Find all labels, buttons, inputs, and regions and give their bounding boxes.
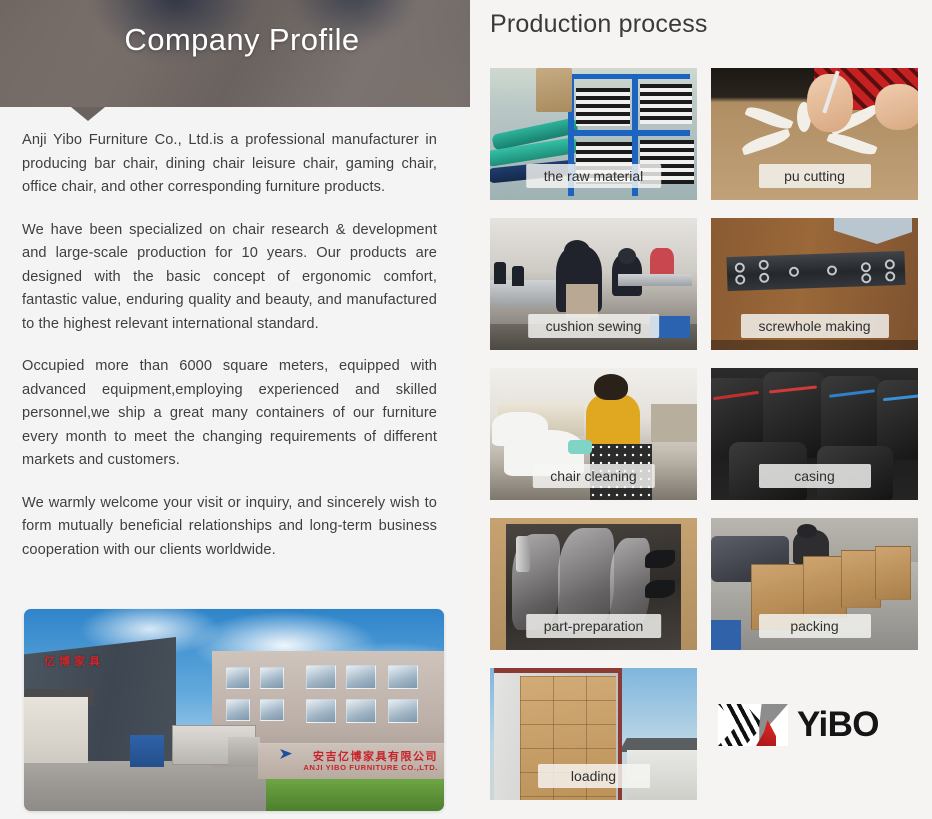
photo-shadow	[711, 340, 918, 350]
process-caption: loading	[538, 764, 650, 788]
photo-window	[388, 699, 418, 723]
page-title: Company Profile	[0, 22, 470, 58]
process-step-loading[interactable]: loading	[490, 668, 697, 800]
production-process-title: Production process	[490, 10, 708, 39]
process-step-cushion-sewing[interactable]: cushion sewing	[490, 218, 697, 350]
photo-window	[306, 665, 336, 689]
photo-chair-base-arm	[645, 580, 675, 598]
profile-paragraph-3: Occupied more than 6000 square meters, e…	[22, 355, 437, 473]
photo-thread-spool	[494, 262, 506, 284]
photo-screw-hole	[885, 259, 895, 269]
photo-metal-sheet	[834, 218, 912, 244]
photo-window	[346, 665, 376, 689]
company-logo: YiBO	[718, 702, 894, 748]
photo-window	[306, 699, 336, 723]
company-profile-panel: Company Profile Anji Yibo Furniture Co.,…	[0, 0, 470, 819]
photo-small-house	[24, 697, 88, 763]
photo-gas-cylinder	[516, 536, 530, 572]
photo-window	[260, 699, 284, 721]
photo-blue-machine	[130, 735, 164, 767]
photo-hand	[807, 74, 853, 132]
photo-white-chair	[492, 412, 548, 446]
process-caption: screwhole making	[740, 314, 888, 338]
process-caption: part-preparation	[526, 614, 662, 638]
photo-blue-stand	[711, 620, 741, 650]
photo-screw-hole	[735, 262, 745, 272]
company-profile-page: Company Profile Anji Yibo Furniture Co.,…	[0, 0, 932, 819]
process-step-the-raw-material[interactable]: the raw material	[490, 68, 697, 200]
photo-worker	[586, 394, 640, 450]
photo-screw-hole	[759, 260, 769, 270]
photo-cardboard	[536, 68, 572, 112]
photo-screw-hole	[789, 267, 799, 277]
profile-paragraph-4: We warmly welcome your visit or inquiry,…	[22, 492, 437, 563]
photo-window	[226, 699, 250, 721]
process-step-chair-cleaning[interactable]: chair cleaning	[490, 368, 697, 500]
process-step-part-preparation[interactable]: part-preparation	[490, 518, 697, 650]
process-caption: casing	[759, 464, 871, 488]
process-caption: pu cutting	[759, 164, 871, 188]
photo-metal-bar	[726, 251, 905, 291]
photo-chair-base-arm	[645, 550, 675, 568]
banner-notch-triangle	[71, 107, 105, 121]
photo-screw-hole	[735, 274, 745, 284]
photo-cart-shelf	[568, 74, 690, 79]
photo-entrance-wall: 安吉亿博家具有限公司 ANJI YIBO FURNITURE CO.,LTD.	[258, 743, 444, 779]
photo-cut-petal	[826, 130, 877, 158]
photo-sewing-machine	[618, 274, 692, 286]
photo-wall-sign-cn: 安吉亿博家具有限公司	[313, 748, 438, 764]
photo-window	[226, 667, 250, 689]
yibo-logo-mark-icon	[718, 704, 788, 746]
photo-background-material	[651, 404, 697, 442]
photo-material-stack	[576, 88, 630, 126]
photo-carton-box	[875, 546, 911, 600]
logo-chevron-icon	[718, 704, 764, 746]
photo-window	[260, 667, 284, 689]
profile-paragraph-1: Anji Yibo Furniture Co., Ltd.is a profes…	[22, 129, 437, 200]
photo-screw-hole	[861, 273, 871, 283]
profile-paragraph-2: We have been specialized on chair resear…	[22, 219, 437, 337]
photo-material-stack	[640, 84, 692, 124]
photo-worker-apron	[566, 284, 598, 318]
photo-gate-kiosk	[228, 737, 260, 767]
photo-grass	[266, 779, 444, 811]
process-caption: cushion sewing	[528, 314, 660, 338]
production-process-panel: Production process th	[470, 0, 932, 819]
photo-window	[346, 699, 376, 723]
process-step-packing[interactable]: packing	[711, 518, 918, 650]
process-step-casing[interactable]: casing	[711, 368, 918, 500]
photo-worker-head	[594, 374, 628, 400]
production-process-grid: the raw material pu cutting	[490, 68, 918, 800]
company-profile-banner: Company Profile	[0, 0, 470, 107]
process-caption: the raw material	[526, 164, 662, 188]
photo-worker-head	[797, 524, 817, 538]
process-step-screwhole-making[interactable]: screwhole making	[711, 218, 918, 350]
process-step-pu-cutting[interactable]: pu cutting	[711, 68, 918, 200]
photo-cart-shelf	[568, 130, 690, 136]
factory-exterior-photo: 亿博家具 安吉亿博家具有限公司 ANJ	[24, 609, 444, 811]
photo-wall-sign-en: ANJI YIBO FURNITURE CO.,LTD.	[303, 763, 438, 772]
photo-wall-logo-icon	[280, 749, 292, 759]
process-caption: chair cleaning	[532, 464, 654, 488]
photo-cut-petal	[740, 129, 791, 156]
photo-screw-hole	[827, 265, 837, 275]
photo-window	[388, 665, 418, 689]
process-caption: packing	[759, 614, 871, 638]
photo-hand	[875, 84, 918, 130]
photo-screw-hole	[759, 273, 769, 283]
photo-worker-head	[564, 240, 590, 262]
photo-screw-hole	[885, 271, 895, 281]
photo-thread-spool	[512, 266, 524, 286]
photo-screw-hole	[861, 262, 871, 272]
logo-wordmark: YiBO	[797, 705, 879, 745]
photo-cleaning-cloth	[568, 440, 592, 454]
photo-building-sign-cn: 亿博家具	[44, 653, 104, 669]
company-profile-text: Anji Yibo Furniture Co., Ltd.is a profes…	[0, 107, 470, 562]
photo-worker-head	[618, 248, 636, 264]
